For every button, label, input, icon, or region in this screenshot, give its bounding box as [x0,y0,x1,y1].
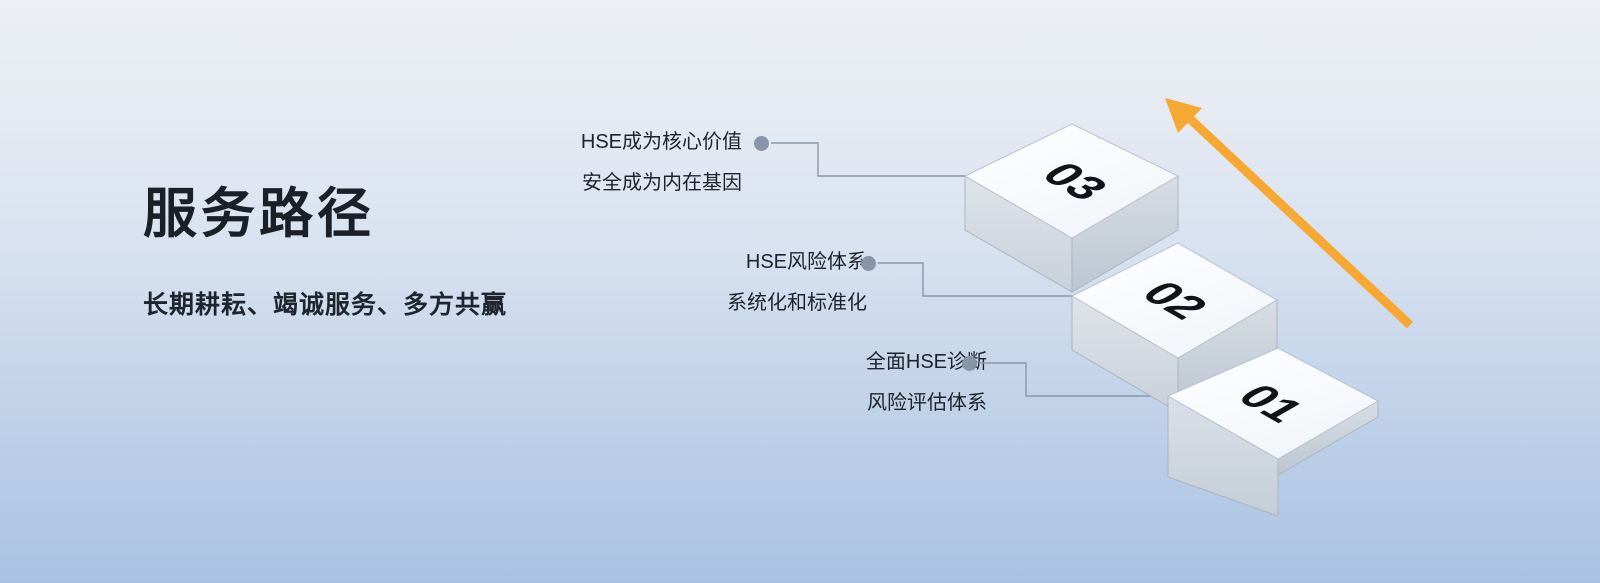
isometric-staircase-graphic: 03 02 01 [0,0,1600,583]
slide-canvas: 服务路径 长期耕耘、竭诚服务、多方共赢 HSE成为核心价值 安全成为内在基因 H… [0,0,1600,583]
connector-03 [771,143,972,176]
